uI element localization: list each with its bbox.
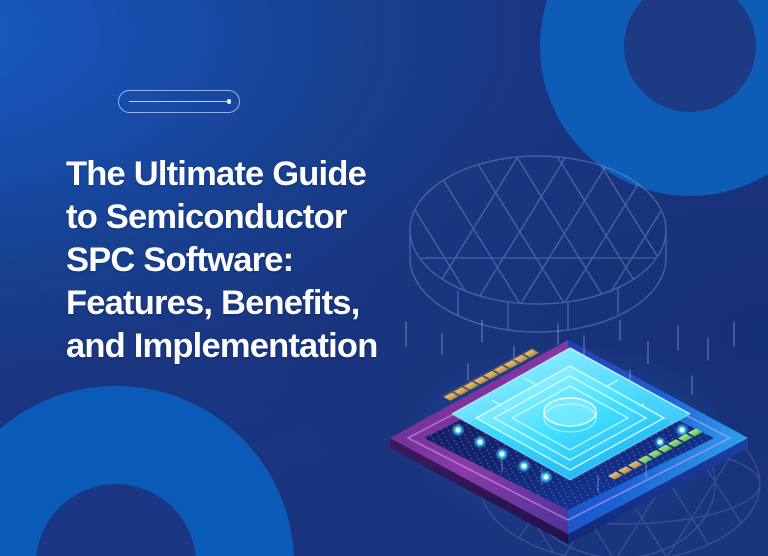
page-title-line-3: SPC Software: — [66, 239, 496, 282]
page-title: The Ultimate Guide to Semiconductor SPC … — [66, 153, 496, 368]
page-title-line-4: Features, Benefits, — [66, 282, 496, 325]
page-title-line-1: The Ultimate Guide — [66, 153, 496, 196]
arrow-rule-decoration — [118, 90, 240, 113]
page-title-line-2: to Semiconductor — [66, 196, 496, 239]
blog-hero-banner: The Ultimate Guide to Semiconductor SPC … — [0, 0, 768, 556]
page-title-line-5: and Implementation — [66, 325, 496, 368]
arrow-line-icon — [129, 101, 230, 102]
